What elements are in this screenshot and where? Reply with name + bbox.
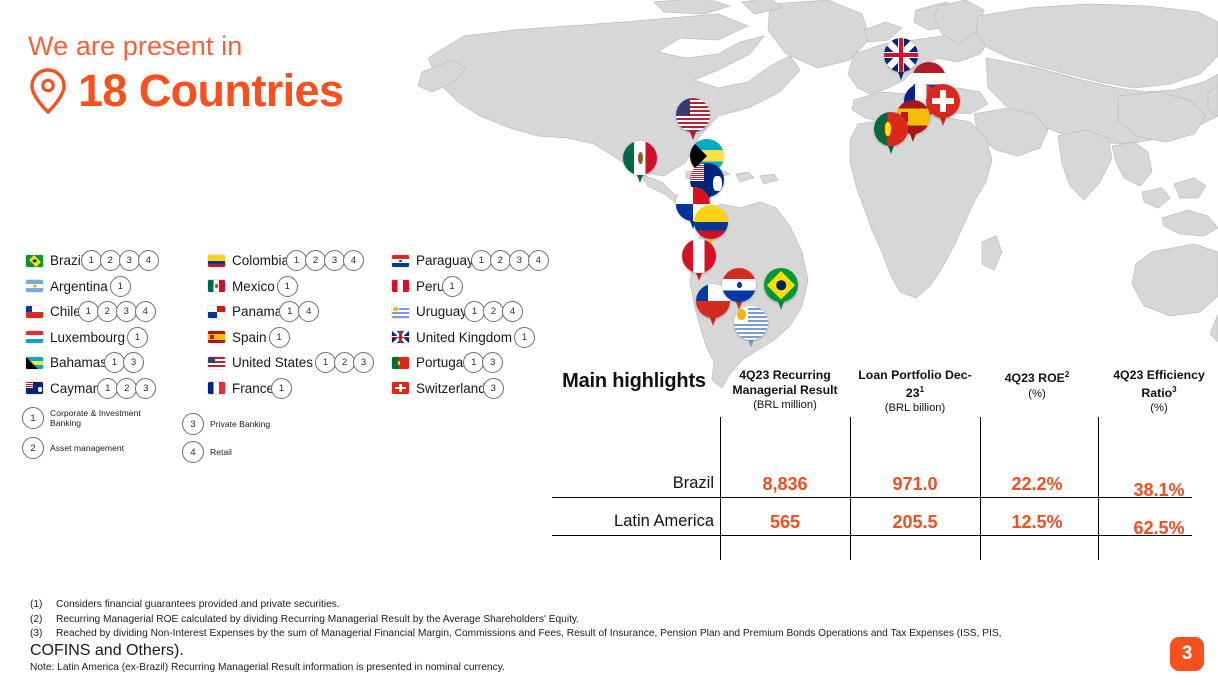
footnote-1: (1) Considers financial guarantees provi… [30,598,1160,613]
country-name: Panama [232,304,282,319]
country-column-1: Brazil1234Argentina1Chile1234Luxembourg1… [26,248,208,401]
country-name: Spain [232,330,267,345]
country-name: Portugal [416,355,466,370]
legend-badge-2: 2 [22,437,44,459]
service-badge-1: 1 [442,276,463,297]
service-badge-3: 3 [353,352,374,373]
footnote-2-num: (2) [30,613,56,628]
service-badge-3: 3 [135,378,156,399]
table-column-header: 4Q23 ROE2(%) [982,368,1092,401]
column-header-unit: (%) [1100,401,1218,416]
country-name: Chile [50,304,81,319]
flag-pt-icon [874,112,908,146]
legend-item-4: 4 Retail [182,441,232,463]
service-badge-1: 1 [463,352,484,373]
country-service-badges: 124 [466,301,523,322]
footnote-2-text: Recurring Managerial ROE calculated by d… [56,613,1160,628]
country-name: Uruguay [416,304,467,319]
flag-gb-icon [392,331,409,343]
flag-uy-icon [392,306,409,318]
table-column-header: 4Q23 Recurring Managerial Result(BRL mil… [722,368,848,413]
flag-br-icon [764,268,798,302]
flag-pe-icon [392,280,409,292]
flag-uy-icon [734,306,768,340]
column-header-unit: (BRL billion) [852,401,978,416]
country-service-badges: 1 [444,276,463,297]
flag-mx-icon [208,280,225,292]
country-name: Brazil [50,253,84,268]
service-badge-1: 1 [269,327,290,348]
service-badge-2: 2 [305,250,326,271]
country-service-badges: 1 [516,327,535,348]
flag-us-icon [208,357,225,369]
country-row: United States123 [208,350,392,376]
service-badge-3: 3 [482,352,503,373]
country-row: United Kingdom1 [392,325,572,351]
service-badge-1: 1 [471,250,492,271]
footnote-2: (2) Recurring Managerial ROE calculated … [30,613,1160,628]
service-badge-2: 2 [116,378,137,399]
flag-pe-icon [682,239,716,273]
column-header-label: 4Q23 ROE [1005,371,1065,385]
country-row: France1 [208,376,392,402]
flag-lu-icon [26,331,43,343]
service-badge-4: 4 [502,301,523,322]
table-column-header: Loan Portfolio Dec-231(BRL billion) [852,368,978,416]
legend-label-3: Private Banking [210,419,270,430]
map-pin-portugal [874,112,908,156]
flag-mx-icon [623,141,657,175]
service-badge-1: 1 [78,301,99,322]
country-row: Chile1234 [26,299,208,325]
country-row: Luxembourg1 [26,325,208,351]
table-cell-value: 205.5 [852,512,978,533]
page-title-block: We are present in 18 Countries [28,30,343,118]
flag-py-icon [392,255,409,267]
country-service-badges: 1 [271,327,290,348]
flag-py-icon [722,268,756,302]
service-badge-3: 3 [119,250,140,271]
legend-badge-1: 1 [22,407,44,429]
country-service-badges: 14 [281,301,319,322]
page-number-badge: 3 [1170,637,1204,671]
page-title-line2: 18 Countries [78,64,343,118]
legend-item-1: 1 Corporate & Investment Banking [22,407,155,429]
service-badge-4: 4 [135,301,156,322]
page-title-line1: We are present in [28,30,343,62]
country-service-badges: 3 [485,378,504,399]
country-column-2: Colombia1234Mexico1Panama14Spain1United … [208,248,392,401]
legend-item-3: 3 Private Banking [182,413,270,435]
footnotes: (1) Considers financial guarantees provi… [30,598,1160,675]
country-row: Argentina1 [26,274,208,300]
flag-co-icon [208,255,225,267]
flag-co-icon [694,205,728,239]
map-pin-peru [682,239,716,283]
service-badge-2: 2 [334,352,355,373]
flag-br-icon [26,255,43,267]
footnote-3-text: Reached by dividing Non-Interest Expense… [56,627,1160,642]
flag-fr-icon [208,382,225,394]
legend-label-4: Retail [210,447,232,458]
service-badge-4: 4 [528,250,549,271]
legend-badge-4: 4 [182,441,204,463]
flag-ch-icon [926,84,960,118]
column-header-label: 4Q23 Recurring Managerial Result [732,368,837,397]
service-badge-1: 1 [104,352,125,373]
table-title: Main highlights [554,370,714,393]
flag-ch-icon [392,382,409,394]
footnote-note: Note: Latin America (ex-Brazil) Recurrin… [30,661,1160,676]
flag-ar-icon [26,280,43,292]
footnote-1-text: Considers financial guarantees provided … [56,598,1160,613]
table-column-divider [980,417,981,560]
country-row: Peru1 [392,274,572,300]
service-badge-1: 1 [279,301,300,322]
table-cell-value: 565 [722,512,848,533]
country-row: Switzerland3 [392,376,572,402]
service-badge-4: 4 [138,250,159,271]
service-badge-1: 1 [464,301,485,322]
country-name: France [232,381,274,396]
table-column-divider [850,417,851,560]
legend-item-2: 2 Asset management [22,437,124,459]
service-badge-1: 1 [110,276,131,297]
table-cell-value: 22.2% [982,474,1092,495]
footnote-3-num: (3) [30,627,56,642]
table-row-divider [552,535,1192,536]
flag-ky-icon [26,382,43,394]
column-header-footnote-ref: 3 [1172,385,1176,394]
map-pin-mexico [623,141,657,185]
map-pin-united-states [676,98,710,142]
country-name: Luxembourg [50,330,125,345]
flag-pt-icon [392,357,409,369]
country-name: Colombia [232,253,289,268]
column-header-unit: (BRL million) [722,398,848,413]
flag-es-icon [208,331,225,343]
footnote-3: (3) Reached by dividing Non-Interest Exp… [30,627,1160,642]
service-badge-2: 2 [100,250,121,271]
map-pin-switzerland [926,84,960,128]
country-column-3: Paraguay1234Peru1Uruguay124United Kingdo… [392,248,572,401]
flag-us-icon [676,98,710,132]
map-pin-brazil [764,268,798,312]
footnote-1-num: (1) [30,598,56,613]
service-badge-3: 3 [116,301,137,322]
country-name: United Kingdom [416,330,512,345]
service-badge-1: 1 [97,378,118,399]
service-badge-4: 4 [343,250,364,271]
country-row: Cayman123 [26,376,208,402]
country-service-badges: 1 [129,327,148,348]
legend-label-2: Asset management [50,443,124,454]
country-row: Brazil1234 [26,248,208,274]
service-badge-1: 1 [315,352,336,373]
flag-bs-icon [26,357,43,369]
legend-label-1: Corporate & Investment Banking [50,408,155,429]
column-header-label: Loan Portfolio Dec-23 [858,368,971,400]
country-service-badges: 1 [112,276,131,297]
country-row: Spain1 [208,325,392,351]
country-row: Portugal13 [392,350,572,376]
table-column-divider [720,417,721,560]
country-name: Mexico [232,279,275,294]
country-service-badges: 1 [273,378,292,399]
column-header-footnote-ref: 2 [1065,370,1069,379]
country-name: Peru [416,279,445,294]
country-service-badges: 1234 [288,250,364,271]
country-name: United States [232,355,313,370]
column-header-label: 4Q23 Efficiency Ratio [1113,368,1205,400]
service-badge-1: 1 [127,327,148,348]
country-service-badges: 1 [279,276,298,297]
map-pin-uruguay [734,306,768,350]
service-badge-3: 3 [483,378,504,399]
country-row: Mexico1 [208,274,392,300]
table-cell-value: 8,836 [722,474,848,495]
country-service-badges: 13 [465,352,503,373]
country-name: Bahamas [50,355,107,370]
country-row: Paraguay1234 [392,248,572,274]
service-badge-1: 1 [286,250,307,271]
country-name: Cayman [50,381,100,396]
country-name: Switzerland [416,381,486,396]
service-badge-3: 3 [123,352,144,373]
service-badge-2: 2 [490,250,511,271]
table-cell-value: 971.0 [852,474,978,495]
table-row-label: Brazil [546,474,714,493]
country-row: Uruguay124 [392,299,572,325]
country-service-badges: 1234 [83,250,159,271]
service-badge-2: 2 [97,301,118,322]
legend-badge-3: 3 [182,413,204,435]
service-badge-1: 1 [277,276,298,297]
service-badge-4: 4 [298,301,319,322]
country-service-badges: 1234 [80,301,156,322]
flag-cl-icon [26,306,43,318]
country-row: Bahamas13 [26,350,208,376]
table-row-divider [552,497,1192,498]
country-row: Panama14 [208,299,392,325]
country-service-badges: 13 [106,352,144,373]
country-row: Colombia1234 [208,248,392,274]
table-column-divider [1098,417,1099,560]
table-column-header: 4Q23 Efficiency Ratio3(%) [1100,368,1218,416]
table-cell-value: 12.5% [982,512,1092,533]
footnote-3-continuation: COFINS and Others). [30,642,1160,660]
column-header-footnote-ref: 1 [920,385,924,394]
country-name: Argentina [50,279,108,294]
service-badge-1: 1 [81,250,102,271]
country-service-badges: 123 [317,352,374,373]
table-row-label: Latin America [546,512,714,531]
service-badge-1: 1 [514,327,535,348]
service-badge-1: 1 [271,378,292,399]
flag-pa-icon [208,306,225,318]
service-badge-2: 2 [483,301,504,322]
country-service-badges: 1234 [473,250,549,271]
location-pin-icon [28,66,68,116]
country-service-badges: 123 [99,378,156,399]
column-header-unit: (%) [982,387,1092,402]
service-badge-3: 3 [509,250,530,271]
main-highlights-table: Main highlights 4Q23 Recurring Manageria… [552,362,1192,562]
country-name: Paraguay [416,253,474,268]
service-badge-3: 3 [324,250,345,271]
